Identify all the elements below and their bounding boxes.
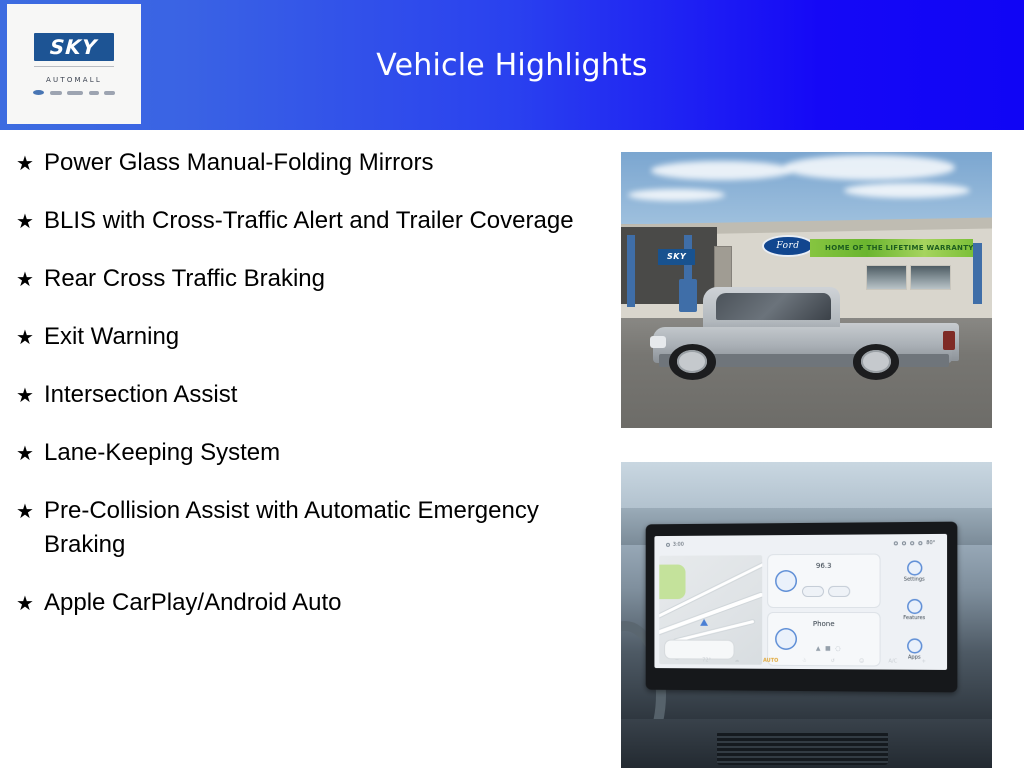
sync-status-right: 80°	[894, 540, 936, 546]
warranty-banner: HOME OF THE LIFETIME WARRANTY	[810, 239, 973, 257]
brand-chip-icon-1	[50, 91, 62, 95]
defrost-icon[interactable]: ☁	[735, 657, 740, 663]
list-item: ★ Rear Cross Traffic Braking	[0, 262, 600, 296]
star-icon: ★	[10, 204, 44, 238]
features-icon	[907, 599, 922, 614]
phone-call-icon[interactable]	[775, 628, 797, 650]
front-wheel	[669, 344, 716, 380]
vehicle-exterior-photo[interactable]: SKY Ford HOME OF THE LIFETIME WARRANTY	[621, 152, 992, 428]
sync-radio-tile[interactable]: 96.3	[768, 555, 880, 608]
ford-oval-icon	[33, 90, 44, 95]
sync-status-left: 3:00	[666, 542, 684, 548]
radio-preset-button[interactable]	[802, 587, 824, 598]
sky-logo-text: SKY	[50, 37, 99, 57]
star-icon: ★	[10, 378, 44, 412]
highlight-label: BLIS with Cross-Traffic Alert and Traile…	[44, 204, 574, 238]
sync-touchscreen[interactable]: 3:00 80°	[655, 534, 948, 671]
profile-icon	[894, 542, 898, 546]
sync-side-rail: Settings Features Apps	[885, 552, 945, 670]
radio-preset-button[interactable]	[828, 587, 850, 598]
sync-rail-settings[interactable]: Settings	[904, 560, 925, 582]
star-icon: ★	[10, 320, 44, 354]
page-header: SKY AUTOMALL Vehicle Highlights	[0, 0, 1024, 130]
canopy-post	[627, 235, 635, 307]
gear-icon	[907, 560, 922, 575]
temp-up-icon[interactable]: +	[922, 658, 926, 664]
cloud-shape	[628, 189, 724, 201]
highlight-label: Rear Cross Traffic Braking	[44, 262, 574, 296]
brand-logos-strip	[33, 90, 115, 95]
temp-down-icon[interactable]: −	[675, 657, 679, 663]
auto-climate-button[interactable]: AUTO	[763, 658, 778, 664]
highlight-label: Apple CarPlay/Android Auto	[44, 586, 574, 620]
sky-logo-mark: SKY	[34, 33, 114, 61]
automall-wordmark-wrap: AUTOMALL	[34, 66, 114, 87]
bluetooth-icon	[918, 542, 922, 546]
battery-icon: ■	[825, 646, 831, 653]
sync-clock: 3:00	[673, 542, 684, 548]
warranty-banner-text: HOME OF THE LIFETIME WARRANTY	[825, 244, 973, 252]
driver-temp-value: 72°	[703, 657, 712, 663]
brand-chip-icon-2	[67, 91, 83, 95]
highlight-label: Intersection Assist	[44, 378, 574, 412]
star-icon: ★	[10, 494, 44, 528]
list-item: ★ Pre-Collision Assist with Automatic Em…	[0, 494, 600, 562]
rail-label: Features	[904, 615, 926, 621]
page-title: Vehicle Highlights	[0, 0, 1024, 130]
headlight	[650, 336, 666, 349]
ford-oval-text: Ford	[776, 241, 799, 251]
wifi-icon	[902, 542, 906, 546]
center-air-vent	[717, 731, 888, 765]
sync-rail-features[interactable]: Features	[904, 599, 926, 621]
list-item: ★ Apple CarPlay/Android Auto	[0, 586, 600, 620]
cloud-shape	[784, 155, 955, 180]
star-icon: ★	[10, 146, 44, 180]
recirculate-icon[interactable]: ↺	[831, 658, 835, 664]
dealer-wall-sign: SKY	[658, 249, 695, 266]
canopy-post	[973, 243, 981, 304]
clock-icon	[666, 543, 670, 547]
automall-wordmark: AUTOMALL	[46, 76, 102, 84]
list-item: ★ BLIS with Cross-Traffic Alert and Trai…	[0, 204, 600, 238]
list-item: ★ Exit Warning	[0, 320, 600, 354]
map-park-area	[659, 564, 686, 599]
highlight-label: Lane-Keeping System	[44, 436, 574, 470]
sync-climate-bar: − 72° ☁ AUTO ☃ ↺ ☺ A/C +	[664, 653, 939, 669]
page-content: ★ Power Glass Manual-Folding Mirrors ★ B…	[0, 130, 1024, 768]
pickup-truck	[647, 279, 959, 384]
rail-label: Settings	[904, 576, 925, 582]
sync-map-tile[interactable]	[659, 555, 762, 665]
list-item: ★ Intersection Assist	[0, 378, 600, 412]
ac-button[interactable]: A/C	[889, 658, 898, 664]
cloud-shape	[651, 161, 792, 180]
apps-icon	[907, 638, 922, 653]
highlight-label: Pre-Collision Assist with Automatic Emer…	[44, 494, 574, 562]
brand-chip-icon-4	[104, 91, 115, 95]
seat-heat-icon[interactable]: ☃	[802, 658, 806, 664]
dealer-wall-sign-text: SKY	[667, 252, 686, 261]
signal-icon	[910, 542, 914, 546]
highlight-label: Exit Warning	[44, 320, 574, 354]
truck-windows	[716, 293, 831, 320]
phone-status-icons: ▲ ■ ◌	[806, 646, 851, 653]
vehicle-highlights-list: ★ Power Glass Manual-Folding Mirrors ★ B…	[0, 130, 600, 644]
list-item: ★ Lane-Keeping System	[0, 436, 600, 470]
ford-oval-sign: Ford	[762, 235, 814, 257]
star-icon: ★	[10, 586, 44, 620]
sync-temperature: 80°	[926, 540, 935, 546]
map-position-icon	[700, 619, 708, 626]
highlight-label: Power Glass Manual-Folding Mirrors	[44, 146, 574, 180]
brand-chip-icon-3	[89, 91, 99, 95]
signal-icon: ▲	[816, 646, 821, 653]
list-item: ★ Power Glass Manual-Folding Mirrors	[0, 146, 600, 180]
bluetooth-icon: ◌	[835, 646, 840, 653]
dealer-logo[interactable]: SKY AUTOMALL	[7, 4, 141, 124]
radio-presets	[802, 587, 851, 598]
radio-source-icon[interactable]	[775, 570, 797, 592]
rear-wheel	[853, 344, 900, 380]
sync-screen-bezel: 3:00 80°	[646, 522, 957, 693]
rear-defrost-icon[interactable]: ☺	[859, 658, 864, 664]
cloud-shape	[844, 183, 970, 198]
vehicle-highlights-page: SKY AUTOMALL Vehicle Highlights ★ Power …	[0, 0, 1024, 768]
star-icon: ★	[10, 436, 44, 470]
taillight	[943, 331, 955, 350]
star-icon: ★	[10, 262, 44, 296]
vehicle-interior-photo[interactable]: 3:00 80°	[621, 462, 992, 768]
